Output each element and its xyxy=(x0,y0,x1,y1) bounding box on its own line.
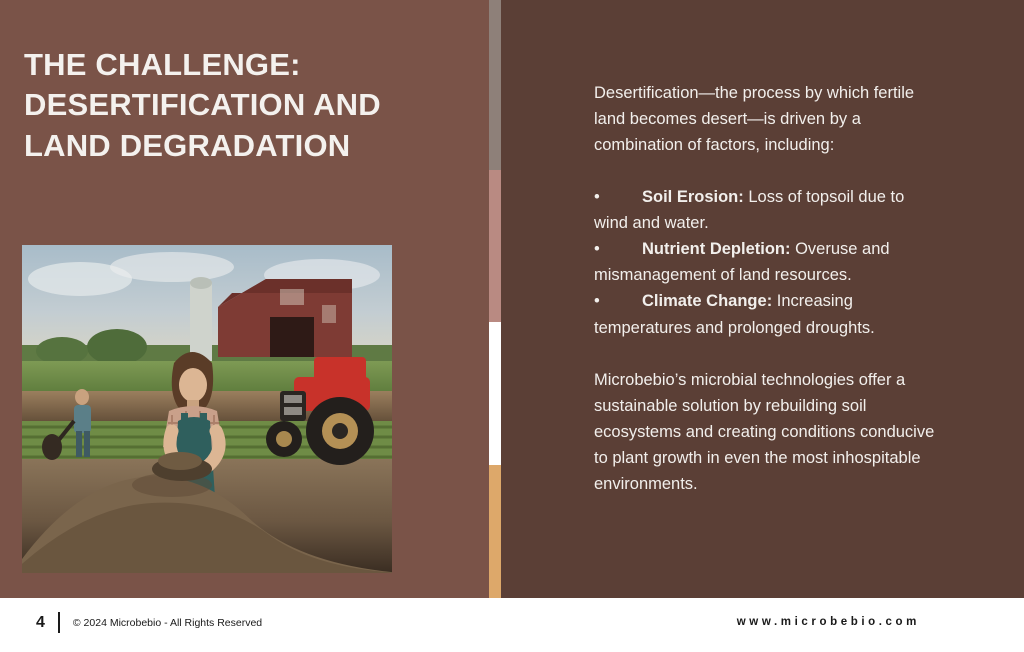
farm-photo-illustration xyxy=(22,245,392,573)
list-item-term: Soil Erosion: xyxy=(642,188,744,206)
closing-paragraph: Microbebio’s microbial technologies offe… xyxy=(594,367,936,497)
bullet-icon xyxy=(594,184,642,210)
footer-left-group: 4 © 2024 Microbebio - All Rights Reserve… xyxy=(36,612,262,633)
copyright-text: © 2024 Microbebio - All Rights Reserved xyxy=(73,613,262,633)
accent-segment-white xyxy=(489,322,501,465)
website-url[interactable]: www.microbebio.com xyxy=(737,612,920,632)
bullet-icon xyxy=(594,288,642,314)
accent-segment-rose xyxy=(489,170,501,322)
list-item: Nutrient Depletion: Overuse and mismanag… xyxy=(594,236,936,288)
list-item-term: Nutrient Depletion: xyxy=(642,240,791,258)
slide: The Challenge: Desertification and Land … xyxy=(0,0,1024,652)
footer: 4 © 2024 Microbebio - All Rights Reserve… xyxy=(0,598,1024,652)
body-copy: Desertification—the process by which fer… xyxy=(594,80,936,497)
accent-segment-tan xyxy=(489,465,501,598)
factors-list: Soil Erosion: Loss of topsoil due to win… xyxy=(594,184,936,340)
page-number: 4 xyxy=(36,613,58,633)
list-item: Soil Erosion: Loss of topsoil due to win… xyxy=(594,184,936,236)
bullet-icon xyxy=(594,236,642,262)
page-title: The Challenge: Desertification and Land … xyxy=(24,45,464,166)
accent-strip xyxy=(489,0,501,598)
farm-photo xyxy=(22,245,392,573)
accent-segment-gray xyxy=(489,0,501,170)
intro-paragraph: Desertification—the process by which fer… xyxy=(594,80,936,158)
footer-divider xyxy=(58,612,60,633)
list-item: Climate Change: Increasing temperatures … xyxy=(594,288,936,340)
list-item-term: Climate Change: xyxy=(642,292,772,310)
